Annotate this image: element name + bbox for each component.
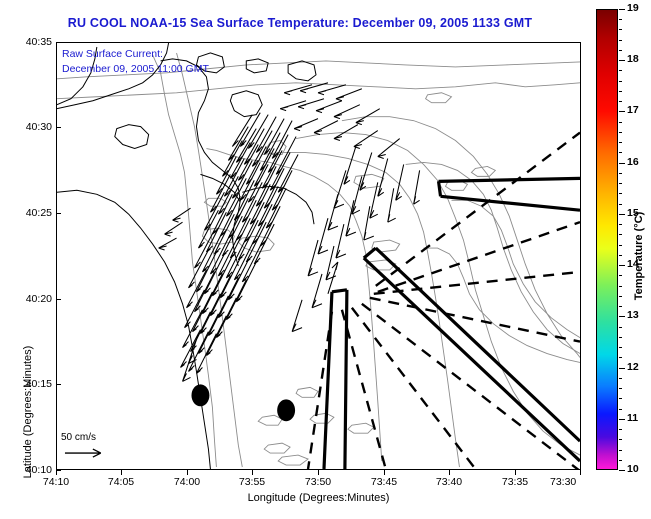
colorbar-major-tick [619, 163, 625, 164]
y-tick-label: 40:30 [6, 121, 52, 133]
colorbar-minor-tick [619, 142, 622, 143]
x-tick-label: 74:00 [157, 476, 217, 488]
colorbar-tick-label: 10 [627, 463, 639, 475]
colorbar-title: Temperature (°C) [633, 166, 645, 346]
colorbar-minor-tick [619, 327, 622, 328]
colorbar-major-tick [619, 419, 625, 420]
colorbar-minor-tick [619, 286, 622, 287]
colorbar-major-tick [619, 368, 625, 369]
y-tick-label: 40:35 [6, 36, 52, 48]
colorbar-minor-tick [619, 19, 622, 20]
sst-map-figure: RU COOL NOAA-15 Sea Surface Temperature:… [0, 0, 651, 519]
sst-contour-lines [57, 53, 580, 467]
colorbar-tick-label: 19 [627, 2, 639, 14]
x-tick-label: 73:35 [485, 476, 545, 488]
station-markers [191, 384, 295, 421]
colorbar-minor-tick [619, 193, 622, 194]
colorbar-minor-tick [619, 183, 622, 184]
colorbar-minor-tick [619, 204, 622, 205]
x-tick-label: 74:05 [91, 476, 151, 488]
colorbar-minor-tick [619, 450, 622, 451]
colorbar-minor-tick [619, 306, 622, 307]
annotation-line-2: December 09, 2005 11:00 GMT [62, 63, 209, 75]
map-plot-area [56, 42, 581, 470]
annotation-line-1: Raw Surface Current: [62, 48, 163, 60]
colorbar-minor-tick [619, 50, 622, 51]
station-marker [277, 399, 295, 421]
scale-legend-label: 50 cm/s [61, 432, 96, 443]
colorbar-minor-tick [619, 132, 622, 133]
colorbar-minor-tick [619, 337, 622, 338]
figure-title: RU COOL NOAA-15 Sea Surface Temperature:… [0, 16, 600, 30]
colorbar-minor-tick [619, 245, 622, 246]
surface-current-vectors [159, 83, 420, 382]
coastline [57, 43, 316, 469]
x-tick-label: 73:55 [222, 476, 282, 488]
colorbar-minor-tick [619, 122, 622, 123]
x-tick-label: 73:50 [288, 476, 348, 488]
colorbar-minor-tick [619, 81, 622, 82]
colorbar-major-tick [619, 470, 625, 471]
colorbar-minor-tick [619, 296, 622, 297]
colorbar-tick-label: 18 [627, 53, 639, 65]
map-graphics [57, 43, 580, 469]
colorbar-minor-tick [619, 173, 622, 174]
colorbar-major-tick [619, 214, 625, 215]
colorbar-major-tick [619, 60, 625, 61]
colorbar-minor-tick [619, 460, 622, 461]
colorbar-gradient [596, 9, 618, 470]
radar-beam-dashed-rays [308, 133, 580, 469]
colorbar-minor-tick [619, 234, 622, 235]
colorbar-minor-tick [619, 101, 622, 102]
colorbar-minor-tick [619, 29, 622, 30]
colorbar-major-tick [619, 111, 625, 112]
colorbar-minor-tick [619, 40, 622, 41]
colorbar-minor-tick [619, 152, 622, 153]
colorbar-minor-tick [619, 70, 622, 71]
colorbar-minor-tick [619, 378, 622, 379]
x-tick-label: 74:10 [26, 476, 86, 488]
x-axis-title: Longitude (Degrees:Minutes) [56, 492, 581, 504]
colorbar-tick-label: 17 [627, 104, 639, 116]
colorbar-tick-label: 11 [627, 412, 638, 424]
colorbar-minor-tick [619, 388, 622, 389]
colorbar-minor-tick [619, 357, 622, 358]
station-marker [191, 384, 209, 406]
x-tick-label: 73:30 [550, 476, 592, 488]
scale-reference-arrow [65, 449, 101, 457]
colorbar-major-tick [619, 265, 625, 266]
colorbar-minor-tick [619, 224, 622, 225]
colorbar-major-tick [619, 9, 625, 10]
colorbar-minor-tick [619, 347, 622, 348]
colorbar-minor-tick [619, 439, 622, 440]
colorbar-minor-tick [619, 91, 622, 92]
y-axis-title: Latitude (Degrees:Minutes) [22, 322, 34, 502]
colorbar-major-tick [619, 316, 625, 317]
colorbar-minor-tick [619, 409, 622, 410]
colorbar-minor-tick [619, 255, 622, 256]
colorbar-minor-tick [619, 398, 622, 399]
x-tick-label: 73:45 [354, 476, 414, 488]
radar-beam-wedges [324, 178, 580, 469]
colorbar-minor-tick [619, 275, 622, 276]
colorbar-minor-tick [619, 429, 622, 430]
x-tick-label: 73:40 [419, 476, 479, 488]
colorbar-tick-label: 12 [627, 361, 639, 373]
